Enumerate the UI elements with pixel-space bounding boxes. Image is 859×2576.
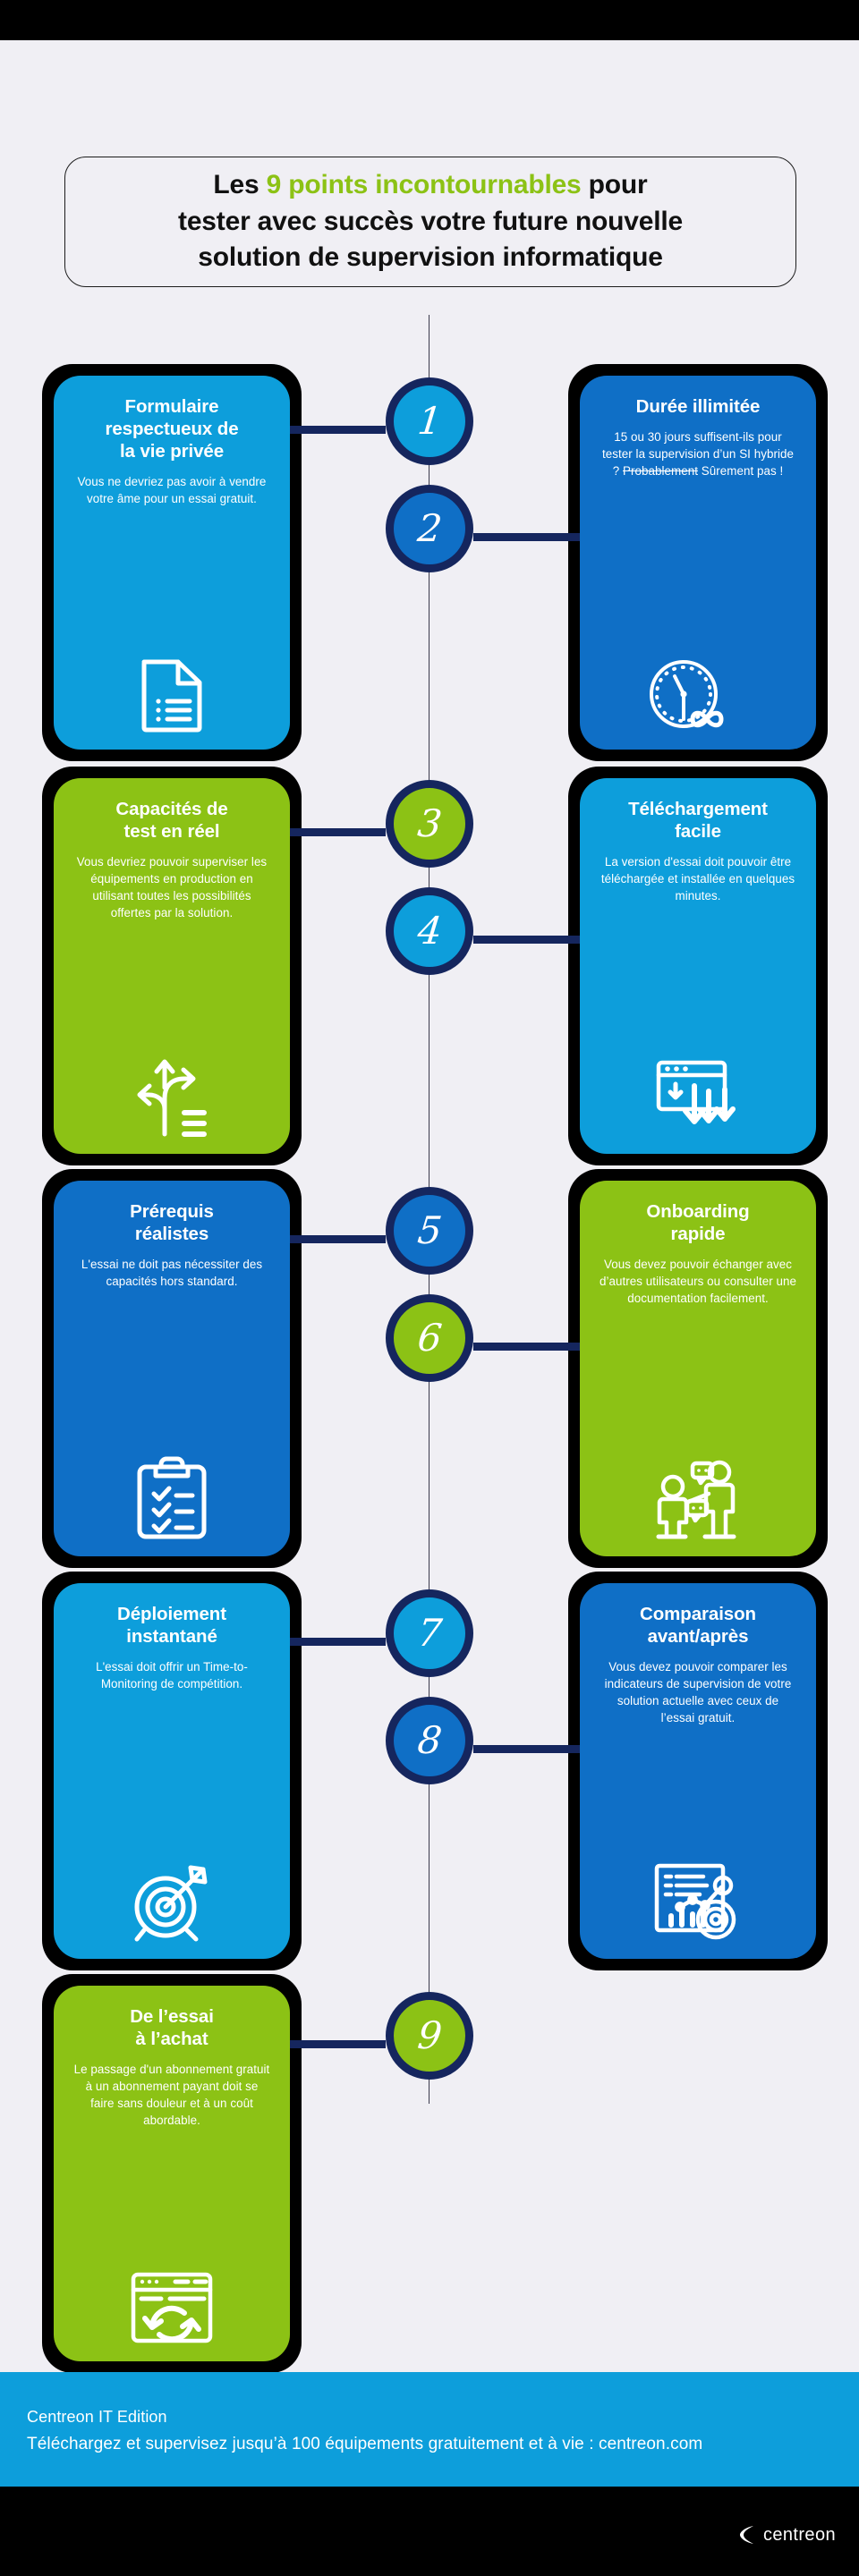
card-title: Prérequisréalistes: [130, 1200, 214, 1245]
download-window-icon: [600, 1046, 796, 1138]
card-body: Vous ne devriez pas avoir à vendre votre…: [73, 473, 270, 507]
card-body: 15 ou 30 jours suffisent-ils pour tester…: [600, 428, 796, 479]
card-body: La version d'essai doit pouvoir être tél…: [600, 853, 796, 904]
step-node-7[interactable]: 7: [386, 1589, 473, 1677]
card-title: Déploiementinstantané: [117, 1603, 226, 1648]
info-card-2: Durée illimitée15 ou 30 jours suffisent-…: [580, 376, 816, 750]
clock-infinity-icon: [600, 644, 796, 733]
info-card-6: OnboardingrapideVous devez pouvoir échan…: [580, 1181, 816, 1556]
step-node-4[interactable]: 4: [386, 887, 473, 975]
info-card-1: Formulairerespectueux dela vie privéeVou…: [54, 376, 290, 750]
page-title: Les 9 points incontournables pour tester…: [178, 167, 683, 276]
step-number: 1: [415, 402, 443, 440]
footer-band: Centreon IT Edition Téléchargez et super…: [0, 2372, 859, 2487]
step-number: 5: [415, 1212, 443, 1250]
title-highlight: 9 points incontournables: [267, 170, 582, 199]
step-number: 4: [415, 912, 443, 950]
title-line3: solution de supervision informatique: [198, 242, 663, 272]
card-title: De l’essaià l’achat: [130, 2005, 214, 2050]
step-number: 8: [415, 1722, 443, 1759]
title-part1: Les: [213, 170, 266, 199]
info-card-8: Comparaisonavant/aprèsVous devez pouvoir…: [580, 1583, 816, 1959]
card-body: Vous devez pouvoir échanger avec d’autre…: [600, 1256, 796, 1307]
card-title: Formulairerespectueux dela vie privée: [106, 395, 239, 462]
page-title-card: Les 9 points incontournables pour tester…: [64, 157, 796, 287]
info-card-4: TéléchargementfacileLa version d'essai d…: [580, 778, 816, 1154]
step-number: 9: [415, 2017, 443, 2055]
card-title: Capacités detest en réel: [115, 798, 227, 843]
step-number: 7: [415, 1614, 443, 1652]
card-body: Le passage d'un abonnement gratuit à un …: [73, 2061, 270, 2129]
centreon-logo: centreon: [738, 2524, 836, 2546]
card-body: Vous devriez pouvoir superviser les équi…: [73, 853, 270, 921]
card-body: L'essai doit offrir un Time-to-Monitorin…: [73, 1658, 270, 1692]
step-number: 2: [415, 510, 443, 547]
step-node-2[interactable]: 2: [386, 485, 473, 572]
step-number: 3: [415, 805, 443, 843]
target-arrow-icon: [73, 1848, 270, 1943]
card-title: Téléchargementfacile: [628, 798, 768, 843]
info-card-7: DéploiementinstantanéL'essai doit offrir…: [54, 1583, 290, 1959]
step-node-5[interactable]: 5: [386, 1187, 473, 1275]
window-refresh-icon: [73, 2258, 270, 2345]
card-title: Durée illimitée: [636, 395, 761, 418]
step-node-1[interactable]: 1: [386, 377, 473, 465]
footer-product-name: Centreon IT Edition: [27, 2408, 859, 2427]
people-chat-icon: [600, 1444, 796, 1540]
title-line2: tester avec succès votre future nouvelle: [178, 207, 683, 236]
title-part2: pour: [582, 170, 648, 199]
step-node-3[interactable]: 3: [386, 780, 473, 868]
info-card-5: PrérequisréalistesL'essai ne doit pas né…: [54, 1181, 290, 1556]
centreon-logo-text: centreon: [763, 2525, 836, 2546]
info-card-9: De l’essaià l’achatLe passage d'un abonn…: [54, 1986, 290, 2361]
card-body: L'essai ne doit pas nécessiter des capac…: [73, 1256, 270, 1290]
dashboard-analytics-icon: [600, 1848, 796, 1943]
footer-cta: Téléchargez et supervisez jusqu’à 100 éq…: [27, 2435, 859, 2454]
bottom-black-bar: [0, 2487, 859, 2576]
document-list-icon: [73, 644, 270, 733]
info-card-3: Capacités detest en réelVous devriez pou…: [54, 778, 290, 1154]
step-number: 6: [415, 1319, 443, 1357]
arrows-branch-icon: [73, 1045, 270, 1138]
step-node-8[interactable]: 8: [386, 1697, 473, 1784]
strikethrough-text: Probablement: [623, 464, 698, 478]
step-node-6[interactable]: 6: [386, 1294, 473, 1382]
clipboard-check-icon: [73, 1444, 270, 1540]
top-black-bar: [0, 0, 859, 40]
step-node-9[interactable]: 9: [386, 1992, 473, 2080]
card-body: Vous devez pouvoir comparer les indicate…: [600, 1658, 796, 1726]
card-title: Comparaisonavant/après: [640, 1603, 756, 1648]
centreon-logo-icon: [738, 2524, 755, 2546]
card-title: Onboardingrapide: [646, 1200, 749, 1245]
